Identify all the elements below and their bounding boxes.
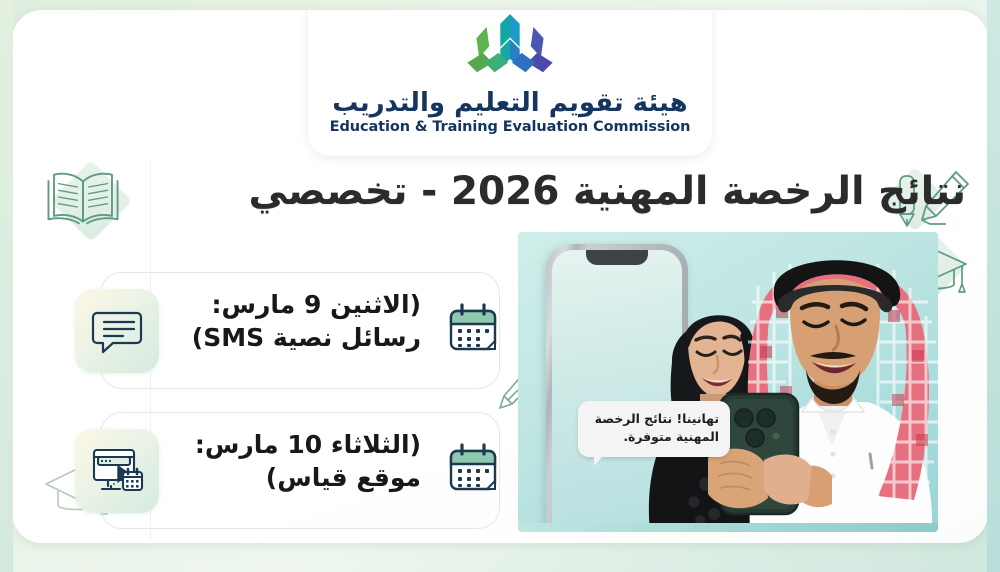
calendar-icon [445, 441, 501, 497]
etec-wheat-logo-icon [446, 12, 574, 86]
saudi-couple-checking-phone-photo [518, 232, 938, 532]
info-card-text: (الاثنين 9 مارس: رسائل نصية SMS) [151, 289, 421, 354]
info-card-qiyas-website: (الثلاثاء 10 مارس: موقع قياس) [100, 412, 500, 529]
etec-logo-card: هيئة تقويم التعليم والتدريب Education & … [308, 10, 712, 156]
main-white-panel: هيئة تقويم التعليم والتدريب Education & … [12, 10, 988, 543]
info-card-sms-results: (الاثنين 9 مارس: رسائل نصية SMS) [100, 272, 500, 389]
monitor-calendar-icon [75, 429, 159, 513]
right-background-strip [987, 0, 1000, 572]
page-title: نتائج الرخصة المهنية 2026 - تخصصي [86, 170, 966, 214]
speech-bubble: تهانينا! نتائج الرخصة المهنية متوفرة. [578, 401, 730, 457]
logo-english-name: Education & Training Evaluation Commissi… [330, 119, 691, 135]
logo-arabic-name: هيئة تقويم التعليم والتدريب [332, 90, 687, 117]
calendar-icon [445, 301, 501, 357]
phone-notch [586, 250, 648, 265]
left-background-strip [0, 0, 13, 572]
chat-bubble-icon [75, 289, 159, 373]
infographic-canvas: هيئة تقويم التعليم والتدريب Education & … [0, 0, 1000, 572]
info-card-text: (الثلاثاء 10 مارس: موقع قياس) [151, 429, 421, 494]
photo-bottom-trim [518, 523, 938, 532]
